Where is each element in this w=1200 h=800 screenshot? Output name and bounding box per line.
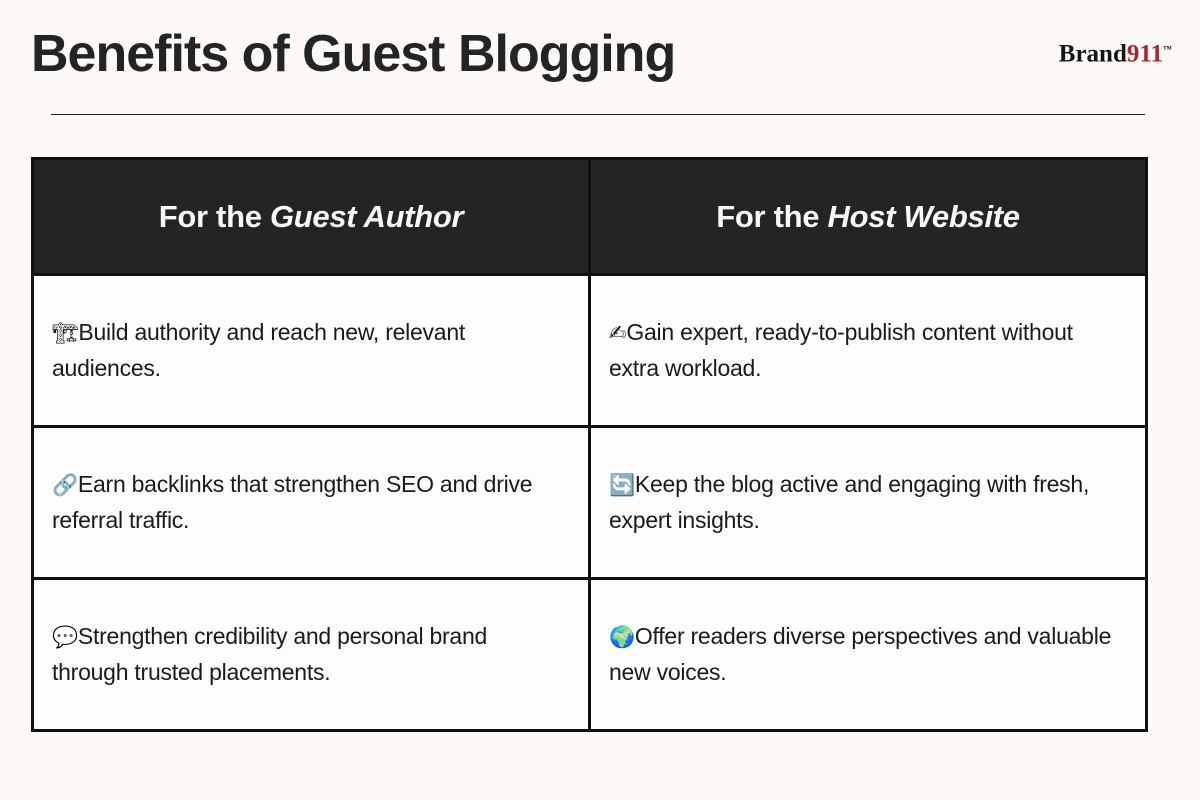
- cell-host-website-3: 🌍Offer readers diverse perspectives and …: [590, 579, 1147, 731]
- logo-brand-text: Brand: [1059, 40, 1127, 67]
- column-header-host-website-emphasis: Host Website: [828, 199, 1020, 234]
- table-row: 🏗Build authority and reach new, relevant…: [33, 275, 1147, 427]
- table-body: 🏗Build authority and reach new, relevant…: [33, 275, 1147, 731]
- benefit-text-guest-author-1: 🏗Build authority and reach new, relevant…: [52, 319, 465, 381]
- cell-host-website-2: 🔄Keep the blog active and engaging with …: [590, 427, 1147, 579]
- refresh-cycle-icon: 🔄: [609, 473, 635, 497]
- column-header-host-website: For the Host Website: [590, 159, 1147, 275]
- table-header-row-group: For the Guest Author For the Host Websit…: [33, 159, 1147, 275]
- benefit-text-host-website-3: 🌍Offer readers diverse perspectives and …: [609, 623, 1111, 685]
- table-header-row: For the Guest Author For the Host Websit…: [33, 159, 1147, 275]
- column-header-guest-author-emphasis: Guest Author: [270, 199, 463, 234]
- table-row: 🔗Earn backlinks that strengthen SEO and …: [33, 427, 1147, 579]
- column-header-host-website-label: For the Host Website: [716, 199, 1019, 234]
- construction-crane-icon: 🏗: [52, 321, 78, 345]
- infographic-page: Benefits of Guest Blogging Brand911™ For…: [0, 0, 1200, 800]
- benefit-text-host-website-1: ✍Gain expert, ready-to-publish content w…: [609, 319, 1073, 381]
- writing-hand-icon: ✍: [609, 321, 626, 345]
- column-header-host-website-prefix: For the: [716, 199, 827, 234]
- logo-number-text: 911: [1127, 40, 1163, 67]
- column-header-guest-author: For the Guest Author: [33, 159, 590, 275]
- title-divider: [51, 114, 1145, 115]
- brand-logo: Brand911™: [1059, 36, 1172, 67]
- cell-guest-author-3: 💬Strengthen credibility and personal bra…: [33, 579, 590, 731]
- benefit-label-host-website-1: Gain expert, ready-to-publish content wi…: [609, 319, 1073, 381]
- benefit-label-guest-author-3: Strengthen credibility and personal bran…: [52, 623, 487, 685]
- cell-host-website-1: ✍Gain expert, ready-to-publish content w…: [590, 275, 1147, 427]
- logo-trademark-symbol: ™: [1163, 44, 1172, 54]
- benefits-table: For the Guest Author For the Host Websit…: [31, 157, 1148, 732]
- benefit-text-guest-author-3: 💬Strengthen credibility and personal bra…: [52, 623, 487, 685]
- table-row: 💬Strengthen credibility and personal bra…: [33, 579, 1147, 731]
- column-header-guest-author-label: For the Guest Author: [159, 199, 464, 234]
- speech-balloon-icon: 💬: [52, 625, 78, 649]
- link-icon: 🔗: [52, 473, 78, 497]
- benefit-text-guest-author-2: 🔗Earn backlinks that strengthen SEO and …: [52, 471, 532, 533]
- page-title: Benefits of Guest Blogging: [31, 22, 675, 86]
- benefit-label-host-website-2: Keep the blog active and engaging with f…: [609, 471, 1089, 533]
- benefit-label-guest-author-2: Earn backlinks that strengthen SEO and d…: [52, 471, 532, 533]
- cell-guest-author-2: 🔗Earn backlinks that strengthen SEO and …: [33, 427, 590, 579]
- cell-guest-author-1: 🏗Build authority and reach new, relevant…: [33, 275, 590, 427]
- benefit-label-guest-author-1: Build authority and reach new, relevant …: [52, 319, 465, 381]
- page-header: Benefits of Guest Blogging Brand911™: [0, 0, 1200, 116]
- globe-icon: 🌍: [609, 625, 635, 649]
- benefit-text-host-website-2: 🔄Keep the blog active and engaging with …: [609, 471, 1089, 533]
- column-header-guest-author-prefix: For the: [159, 199, 270, 234]
- benefit-label-host-website-3: Offer readers diverse perspectives and v…: [609, 623, 1111, 685]
